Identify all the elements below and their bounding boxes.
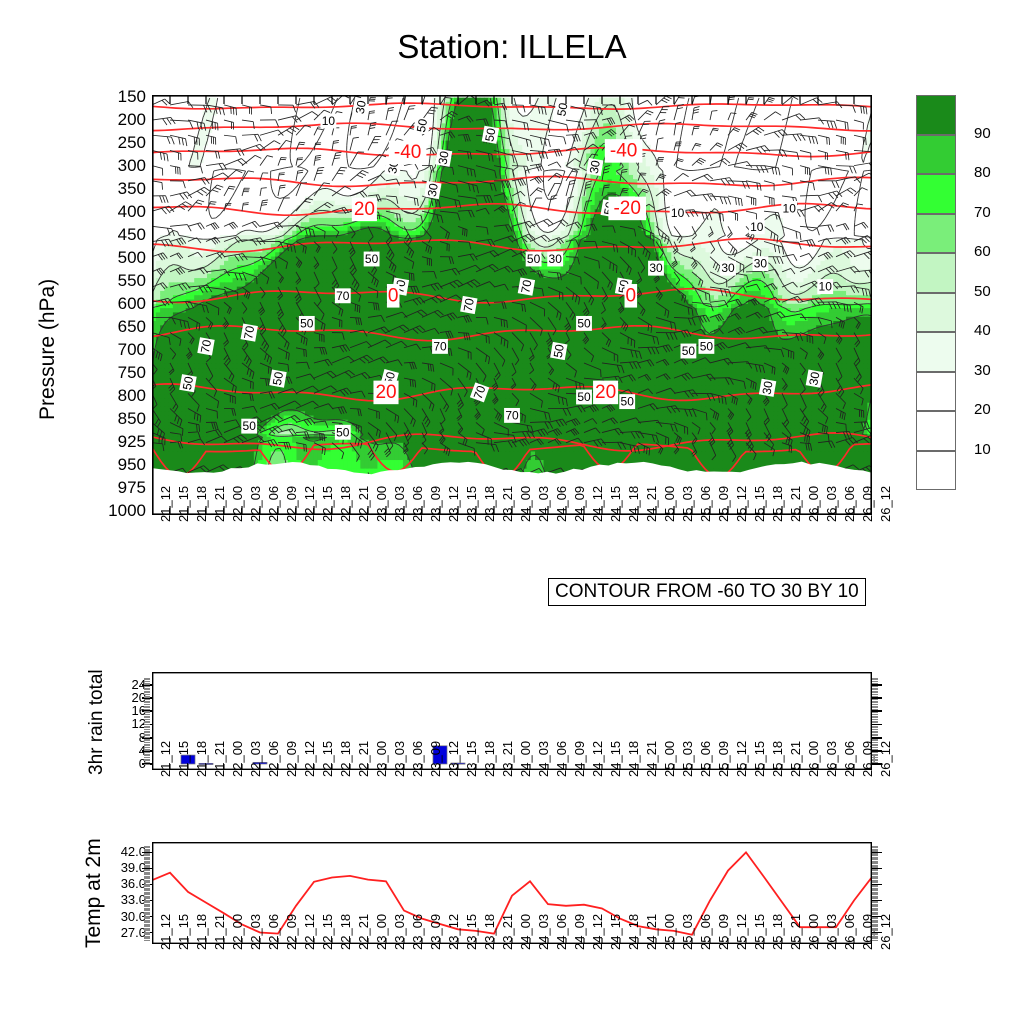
temp-time-tick: 22_09 (284, 914, 299, 950)
rain-minor-tick (144, 757, 150, 758)
temp-minor-tick (144, 858, 150, 859)
rain-right-axis (872, 672, 890, 770)
rain-time-tick: 25_18 (770, 741, 785, 777)
rain-right-minor-tick (872, 692, 878, 693)
rain-time-tick: 24_18 (626, 741, 641, 777)
rain-minor-tick (144, 739, 150, 740)
pressure-tick: 300 (60, 156, 146, 176)
colorbar-cell[interactable] (916, 332, 956, 372)
temp-right-minor-tick (872, 888, 878, 889)
rain-right-tick-mark (872, 724, 882, 726)
rain-minor-tick (144, 678, 150, 679)
temp-time-tick: 22_06 (266, 914, 281, 950)
rain-minor-tick (144, 734, 150, 735)
temp-minor-tick (144, 920, 150, 921)
pressure-axis: 1502002503003504004505005506006507007508… (60, 95, 146, 515)
temp-minor-tick (144, 922, 150, 923)
rain-minor-tick (144, 731, 150, 732)
temp-right-minor-tick (872, 892, 878, 893)
temp-minor-tick (144, 870, 150, 871)
rain-time-tick: 21_18 (194, 741, 209, 777)
rain-right-tick-mark (872, 750, 882, 752)
rain-minor-tick (144, 754, 150, 755)
colorbar-cell[interactable] (916, 214, 956, 254)
rain-minor-tick (144, 704, 150, 705)
temp-minor-tick (144, 925, 150, 926)
colorbar-label: 40 (974, 322, 991, 339)
temp-time-tick: 24_12 (590, 914, 605, 950)
rain-right-minor-tick (872, 716, 878, 717)
rain-time-tick: 26_06 (842, 741, 857, 777)
pressure-tick: 350 (60, 179, 146, 199)
temp-minor-tick (144, 910, 150, 911)
rain-minor-tick (144, 745, 150, 746)
rain-minor-tick (144, 762, 150, 763)
temp-right-minor-tick (872, 937, 878, 938)
rain-right-tick-mark (872, 737, 882, 739)
temp-right-minor-tick (872, 904, 878, 905)
pressure-tick: 150 (60, 87, 146, 107)
rain-right-minor-tick (872, 742, 878, 743)
temp-right-minor-tick (872, 847, 878, 848)
temp-right-minor-tick (872, 893, 878, 894)
temp-minor-tick (144, 916, 150, 917)
rain-right-tick-mark (872, 684, 882, 686)
temp-minor-tick (144, 854, 150, 855)
rain-time-tick: 24_15 (608, 741, 623, 777)
temp-time-tick: 25_06 (698, 914, 713, 950)
rain-minor-tick (144, 679, 150, 680)
main-time-tick: 21_18 (194, 486, 209, 522)
temp-right-minor-tick (872, 878, 878, 879)
temp-minor-tick (144, 865, 150, 866)
rain-time-tick: 22_00 (230, 741, 245, 777)
temp-minor-tick (144, 921, 150, 922)
colorbar-cell[interactable] (916, 95, 956, 135)
temp-right-minor-tick (872, 890, 878, 891)
colorbar-label: 60 (974, 243, 991, 260)
rain-right-minor-tick (872, 752, 878, 753)
temp-minor-tick (144, 878, 150, 879)
colorbar-cell[interactable] (916, 372, 956, 412)
main-time-tick: 25_15 (752, 486, 767, 522)
rain-time-tick: 23_00 (374, 741, 389, 777)
temp-minor-tick (144, 880, 150, 881)
temp-minor-tick (144, 904, 150, 905)
pressure-tick: 250 (60, 133, 146, 153)
rain-minor-tick (144, 740, 150, 741)
temp-time-tick: 24_18 (626, 914, 641, 950)
temp-time-tick: 21_12 (158, 914, 173, 950)
main-time-tick: 22_21 (356, 486, 371, 522)
temp-minor-tick (144, 894, 150, 895)
rain-minor-tick (144, 712, 150, 713)
temp-minor-tick (144, 906, 150, 907)
temp-minor-tick (144, 913, 150, 914)
temp-time-tick: 22_21 (356, 914, 371, 950)
main-time-tick: 24_03 (536, 486, 551, 522)
rain-minor-tick (144, 701, 150, 702)
temp-minor-tick (144, 849, 150, 850)
temp-minor-tick (144, 933, 150, 934)
pressure-tick: 700 (60, 340, 146, 360)
main-time-tick: 25_18 (770, 486, 785, 522)
rain-minor-tick (144, 716, 150, 717)
rain-minor-tick (144, 750, 150, 751)
rain-tick: 24 (102, 677, 146, 692)
main-time-tick: 25_06 (698, 486, 713, 522)
temp-minor-tick (144, 901, 150, 902)
rain-time-tick: 23_12 (446, 741, 461, 777)
rain-minor-tick (144, 717, 150, 718)
temp-right-minor-tick (872, 894, 878, 895)
colorbar-cell[interactable] (916, 451, 956, 491)
temp-right-tick-mark (872, 884, 882, 886)
temp-time-tick: 21_15 (176, 914, 191, 950)
temp-right-minor-tick (872, 918, 878, 919)
temp-time-tick: 22_03 (248, 914, 263, 950)
temp-right-tick-mark (872, 868, 882, 870)
temp-time-tick: 24_15 (608, 914, 623, 950)
rain-minor-tick (144, 737, 150, 738)
temp-time-tick: 24_00 (518, 914, 533, 950)
sounding-canvas: 5070507050705070707070503050505030505030… (152, 95, 872, 515)
temp-minor-tick (144, 862, 150, 863)
temp-time-tick: 24_06 (554, 914, 569, 950)
rain-time-tick: 21_21 (212, 741, 227, 777)
temp-minor-tick (144, 893, 150, 894)
temp-minor-tick (144, 926, 150, 927)
rain-time-tick: 25_09 (716, 741, 731, 777)
temp-time-tick: 25_03 (680, 914, 695, 950)
rain-tick: 12 (102, 716, 146, 731)
temp-minor-tick (144, 905, 150, 906)
main-time-tick: 26_03 (824, 486, 839, 522)
rain-right-minor-tick (872, 757, 878, 758)
rain-right-minor-tick (872, 740, 878, 741)
temp-right-minor-tick (872, 865, 878, 866)
temp-minor-tick (144, 889, 150, 890)
main-time-tick: 26_12 (878, 486, 893, 522)
rain-time-tick: 23_18 (482, 741, 497, 777)
pressure-tick: 650 (60, 317, 146, 337)
temp-right-minor-tick (872, 936, 878, 937)
temp-axis-label: Temp at 2m (82, 838, 106, 948)
main-time-tick: 25_03 (680, 486, 695, 522)
rain-time-tick: 24_12 (590, 741, 605, 777)
temp-right-minor-tick (872, 881, 878, 882)
temp-right-minor-tick (872, 928, 878, 929)
main-time-tick: 22_15 (320, 486, 335, 522)
rain-tick: 0 (102, 756, 146, 771)
rain-right-minor-tick (872, 729, 878, 730)
main-time-tick: 22_03 (248, 486, 263, 522)
colorbar-cell[interactable] (916, 135, 956, 175)
colorbar-cell[interactable] (916, 253, 956, 293)
rain-minor-tick (144, 744, 150, 745)
rain-minor-tick (144, 742, 150, 743)
main-time-tick: 23_15 (464, 486, 479, 522)
temp-minor-tick (144, 888, 150, 889)
rain-minor-tick (144, 702, 150, 703)
temp-minor-tick (144, 937, 150, 938)
rain-minor-tick (144, 726, 150, 727)
main-time-tick: 22_12 (302, 486, 317, 522)
temp-right-minor-tick (872, 924, 878, 925)
temp-time-tick: 24_03 (536, 914, 551, 950)
temp-right-minor-tick (872, 922, 878, 923)
rain-time-tick: 25_21 (788, 741, 803, 777)
main-time-tick: 23_06 (410, 486, 425, 522)
main-time-tick: 26_00 (806, 486, 821, 522)
main-time-tick: 22_18 (338, 486, 353, 522)
rain-minor-tick (144, 760, 150, 761)
main-time-tick: 23_18 (482, 486, 497, 522)
main-time-tick: 26_09 (860, 486, 875, 522)
temp-minor-tick (144, 857, 150, 858)
main-time-tick: 25_00 (662, 486, 677, 522)
temp-minor-tick (144, 909, 150, 910)
pressure-axis-label: Pressure (hPa) (36, 279, 60, 420)
temp-right-minor-tick (872, 855, 878, 856)
rain-time-tick: 25_15 (752, 741, 767, 777)
pressure-tick: 950 (60, 455, 146, 475)
temp-minor-tick (144, 863, 150, 864)
colorbar-cell[interactable] (916, 411, 956, 451)
rain-right-minor-tick (872, 702, 878, 703)
colorbar-cell[interactable] (916, 293, 956, 333)
temp-minor-tick (144, 869, 150, 870)
rain-right-minor-tick (872, 719, 878, 720)
rain-right-minor-tick (872, 734, 878, 735)
main-time-tick: 25_12 (734, 486, 749, 522)
rain-time-tick: 22_12 (302, 741, 317, 777)
rain-minor-tick (144, 691, 150, 692)
rain-minor-tick (144, 749, 150, 750)
temp-minor-tick (144, 866, 150, 867)
rain-right-minor-tick (872, 689, 878, 690)
main-time-tick: 21_12 (158, 486, 173, 522)
pressure-tick: 200 (60, 110, 146, 130)
rain-time-tick: 23_06 (410, 741, 425, 777)
main-time-tick: 25_21 (788, 486, 803, 522)
colorbar-label: 80 (974, 164, 991, 181)
temp-right-minor-tick (872, 938, 878, 939)
temp-right-minor-tick (872, 913, 878, 914)
temp-right-minor-tick (872, 909, 878, 910)
temp-minor-tick (144, 938, 150, 939)
rain-time-tick: 26_00 (806, 741, 821, 777)
pressure-tick: 600 (60, 294, 146, 314)
temp-right-minor-tick (872, 877, 878, 878)
temp-minor-tick (144, 851, 150, 852)
rain-minor-tick (144, 689, 150, 690)
rain-minor-tick (144, 697, 150, 698)
rain-minor-tick (144, 699, 150, 700)
rain-minor-tick (144, 755, 150, 756)
rain-right-minor-tick (872, 681, 878, 682)
temp-minor-tick (144, 892, 150, 893)
rain-minor-tick (144, 764, 150, 765)
temp-time-tick: 25_15 (752, 914, 767, 950)
temp-right-tick-mark (872, 932, 882, 934)
temp-minor-tick (144, 924, 150, 925)
rain-right-minor-tick (872, 691, 878, 692)
temp-minor-tick (144, 898, 150, 899)
rain-time-tick: 22_03 (248, 741, 263, 777)
figure-root: Station: ILLELA 507050705070507070707050… (0, 0, 1024, 1024)
main-time-tick: 23_03 (392, 486, 407, 522)
temp-time-tick: 25_00 (662, 914, 677, 950)
temp-right-axis (872, 842, 890, 944)
temp-minor-tick (144, 881, 150, 882)
temp-minor-tick (144, 934, 150, 935)
rain-minor-tick (144, 722, 150, 723)
rain-right-minor-tick (872, 744, 878, 745)
rain-time-tick: 25_00 (662, 741, 677, 777)
temp-right-minor-tick (872, 896, 878, 897)
rain-minor-tick (144, 709, 150, 710)
colorbar-label: 30 (974, 362, 991, 379)
rain-right-minor-tick (872, 704, 878, 705)
rain-time-tick: 23_09 (428, 741, 443, 777)
rain-minor-tick (144, 729, 150, 730)
temp-right-tick-mark (872, 852, 882, 854)
rain-right-minor-tick (872, 678, 878, 679)
temp-time-tick: 23_09 (428, 914, 443, 950)
temp-minor-tick (144, 884, 150, 885)
rain-right-minor-tick (872, 754, 878, 755)
temp-minor-tick (144, 890, 150, 891)
rain-minor-tick (144, 724, 150, 725)
colorbar-label: 90 (974, 125, 991, 142)
rain-minor-tick (144, 747, 150, 748)
temp-right-minor-tick (872, 921, 878, 922)
pressure-tick: 500 (60, 248, 146, 268)
temp-right-minor-tick (872, 925, 878, 926)
main-time-tick: 22_06 (266, 486, 281, 522)
colorbar-cell[interactable] (916, 174, 956, 214)
rain-time-tick: 21_15 (176, 741, 191, 777)
temp-right-tick-mark (872, 916, 882, 918)
rain-minor-tick (144, 683, 150, 684)
temp-time-tick: 22_18 (338, 914, 353, 950)
temp-minor-tick (144, 873, 150, 874)
temp-right-minor-tick (872, 854, 878, 855)
rain-minor-tick (144, 707, 150, 708)
main-time-tick: 23_21 (500, 486, 515, 522)
temp-right-minor-tick (872, 859, 878, 860)
temp-right-minor-tick (872, 872, 878, 873)
rain-right-minor-tick (872, 707, 878, 708)
rain-time-tick: 24_03 (536, 741, 551, 777)
temp-time-tick: 23_06 (410, 914, 425, 950)
temp-right-minor-tick (872, 880, 878, 881)
main-time-tick: 21_21 (212, 486, 227, 522)
temp-minor-tick (144, 936, 150, 937)
temp-minor-tick (144, 846, 150, 847)
main-time-tick: 22_00 (230, 486, 245, 522)
rain-time-tick: 25_12 (734, 741, 749, 777)
contour-note: CONTOUR FROM -60 TO 30 BY 10 (548, 578, 866, 606)
temp-minor-tick (144, 908, 150, 909)
rain-right-minor-tick (872, 755, 878, 756)
temp-minor-tick (144, 928, 150, 929)
temp-right-minor-tick (872, 910, 878, 911)
rain-right-tick-mark (872, 710, 882, 712)
temp-minor-tick (144, 847, 150, 848)
rain-right-minor-tick (872, 732, 878, 733)
rain-right-minor-tick (872, 714, 878, 715)
rain-time-tick: 24_06 (554, 741, 569, 777)
temp-right-minor-tick (872, 870, 878, 871)
rain-minor-tick (144, 714, 150, 715)
rain-right-minor-tick (872, 688, 878, 689)
temp-time-tick: 24_21 (644, 914, 659, 950)
rain-right-minor-tick (872, 686, 878, 687)
main-time-tick: 24_06 (554, 486, 569, 522)
rain-right-minor-tick (872, 679, 878, 680)
temp-minor-tick (144, 902, 150, 903)
rain-time-tick: 23_15 (464, 741, 479, 777)
main-time-tick: 25_09 (716, 486, 731, 522)
rain-minor-tick (144, 684, 150, 685)
temp-minor-tick (144, 882, 150, 883)
temp-minor-tick (144, 885, 150, 886)
temp-time-tick: 24_09 (572, 914, 587, 950)
main-time-tick: 21_15 (176, 486, 191, 522)
rain-minor-tick (144, 696, 150, 697)
rain-minor-tick (144, 727, 150, 728)
rain-right-minor-tick (872, 699, 878, 700)
rain-tick: 20 (102, 690, 146, 705)
temp-right-minor-tick (872, 934, 878, 935)
rain-time-tick: 23_21 (500, 741, 515, 777)
main-time-axis: 21_1221_1521_1821_2122_0022_0322_0622_09… (152, 520, 872, 580)
main-time-tick: 23_09 (428, 486, 443, 522)
temp-right-minor-tick (872, 912, 878, 913)
rain-minor-tick (144, 688, 150, 689)
colorbar[interactable]: 908070605040302010 (916, 95, 1016, 495)
temp-right-minor-tick (872, 897, 878, 898)
rain-time-tick: 21_12 (158, 741, 173, 777)
temp-minor-tick (144, 896, 150, 897)
temp-right-minor-tick (872, 874, 878, 875)
temp-time-tick: 23_03 (392, 914, 407, 950)
temp-minor-tick (144, 918, 150, 919)
rain-time-tick: 24_00 (518, 741, 533, 777)
temp-right-minor-tick (872, 863, 878, 864)
temp-right-minor-tick (872, 920, 878, 921)
temp-right-minor-tick (872, 849, 878, 850)
rain-minor-tick (144, 694, 150, 695)
rain-right-minor-tick (872, 739, 878, 740)
temp-right-minor-tick (872, 906, 878, 907)
rain-right-minor-tick (872, 747, 878, 748)
rain-minor-tick (144, 732, 150, 733)
temp-minor-tick (144, 932, 150, 933)
rain-minor-tick (144, 711, 150, 712)
temp-right-minor-tick (872, 846, 878, 847)
temp-right-minor-tick (872, 902, 878, 903)
temp-right-minor-tick (872, 905, 878, 906)
temp-minor-tick (144, 912, 150, 913)
pressure-tick: 550 (60, 271, 146, 291)
temp-time-tick: 26_00 (806, 914, 821, 950)
rain-right-minor-tick (872, 712, 878, 713)
rain-right-minor-tick (872, 745, 878, 746)
temp-minor-tick (144, 876, 150, 877)
